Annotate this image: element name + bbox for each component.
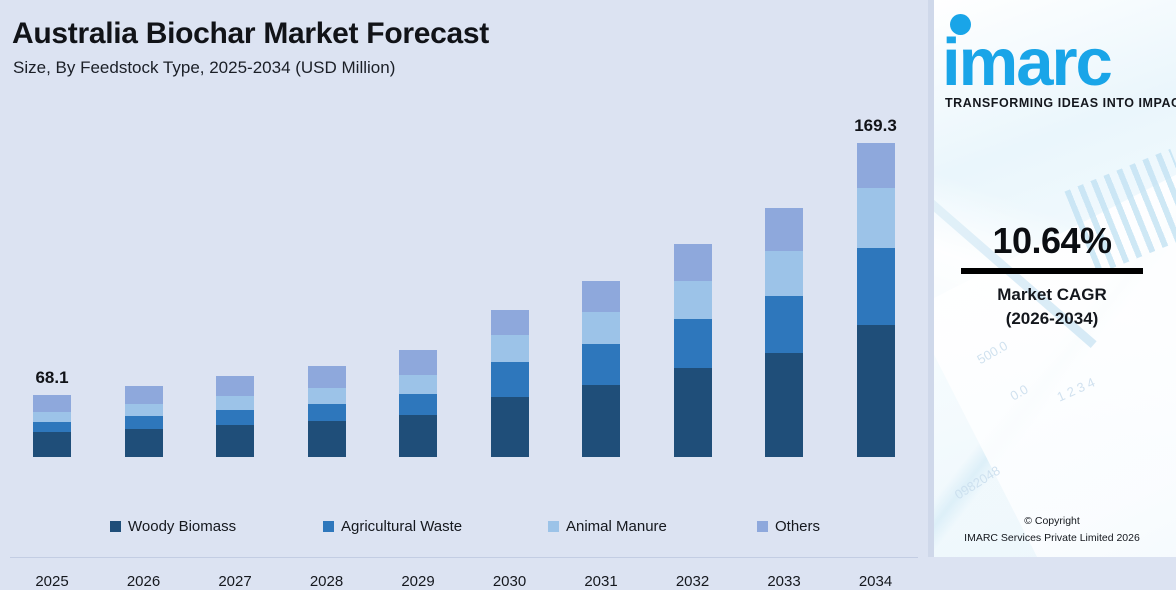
cagr-period: (2026-2034) (928, 307, 1176, 332)
bar-segment-woody-biomass-2029[interactable] (399, 415, 437, 457)
bar-segment-woody-biomass-2027[interactable] (216, 425, 254, 457)
copyright-line-2: IMARC Services Private Limited 2026 (928, 530, 1176, 546)
bar-segment-agricultural-waste-2033[interactable] (765, 296, 803, 353)
page-subtitle: Size, By Feedstock Type, 2025-2034 (USD … (13, 58, 395, 78)
bar-segment-animal-manure-2028[interactable] (308, 388, 346, 404)
chart-panel: Australia Biochar Market Forecast Size, … (0, 0, 928, 557)
bar-segment-agricultural-waste-2030[interactable] (491, 362, 529, 397)
legend-item-others[interactable]: Others (757, 518, 820, 535)
bar-segment-animal-manure-2031[interactable] (582, 312, 620, 344)
x-axis-label-2033: 2033 (765, 573, 803, 590)
legend-swatch-icon (110, 521, 121, 532)
x-axis-label-2031: 2031 (582, 573, 620, 590)
bar-stack-2028[interactable] (308, 366, 346, 457)
bar-segment-agricultural-waste-2026[interactable] (125, 416, 163, 429)
brand-side-panel: 500.0 0.0 1 2 3 4 0982048 imarc TRANSFOR… (928, 0, 1176, 557)
bar-stack-2027[interactable] (216, 376, 254, 457)
plot-area: 68.1169.3 202520262027202820292030203120… (0, 100, 928, 460)
bar-stack-2030[interactable] (491, 310, 529, 457)
legend-item-animal-manure[interactable]: Animal Manure (548, 518, 667, 535)
bar-segment-woody-biomass-2032[interactable] (674, 368, 712, 457)
legend-item-woody-biomass[interactable]: Woody Biomass (110, 518, 236, 535)
chart-legend: Woody BiomassAgricultural WasteAnimal Ma… (0, 518, 920, 544)
bar-stack-2029[interactable] (399, 350, 437, 457)
copyright-block: © Copyright IMARC Services Private Limit… (928, 513, 1176, 546)
bar-segment-others-2025[interactable] (33, 395, 71, 412)
page-title: Australia Biochar Market Forecast (12, 17, 489, 51)
bar-segment-woody-biomass-2026[interactable] (125, 429, 163, 457)
bar-segment-animal-manure-2026[interactable] (125, 404, 163, 416)
bar-segment-woody-biomass-2030[interactable] (491, 397, 529, 457)
bar-segment-others-2027[interactable] (216, 376, 254, 396)
bar-segment-agricultural-waste-2029[interactable] (399, 394, 437, 415)
bar-segment-animal-manure-2027[interactable] (216, 396, 254, 410)
bar-total-label-2034: 169.3 (854, 116, 897, 136)
bar-segment-agricultural-waste-2031[interactable] (582, 344, 620, 385)
bar-segment-others-2028[interactable] (308, 366, 346, 388)
legend-label: Woody Biomass (128, 518, 236, 535)
x-axis-label-2027: 2027 (216, 573, 254, 590)
x-axis-label-2026: 2026 (125, 573, 163, 590)
bar-segment-woody-biomass-2033[interactable] (765, 353, 803, 457)
bar-segment-others-2029[interactable] (399, 350, 437, 375)
bar-stack-2025[interactable] (33, 395, 71, 457)
bar-segment-agricultural-waste-2032[interactable] (674, 319, 712, 368)
bar-segment-woody-biomass-2025[interactable] (33, 432, 71, 457)
bar-segment-others-2026[interactable] (125, 386, 163, 404)
bar-segment-others-2032[interactable] (674, 244, 712, 281)
logo-tagline: TRANSFORMING IDEAS INTO IMPACT (945, 96, 1176, 110)
bar-stack-2031[interactable] (582, 281, 620, 457)
x-axis-label-2032: 2032 (674, 573, 712, 590)
bar-segment-woody-biomass-2031[interactable] (582, 385, 620, 457)
bar-stack-2026[interactable] (125, 386, 163, 457)
bar-segment-animal-manure-2033[interactable] (765, 251, 803, 296)
x-axis-label-2034: 2034 (857, 573, 895, 590)
bar-segment-animal-manure-2029[interactable] (399, 375, 437, 394)
chart-screenshot: Australia Biochar Market Forecast Size, … (0, 0, 1176, 557)
bar-segment-animal-manure-2034[interactable] (857, 188, 895, 248)
bar-segment-agricultural-waste-2025[interactable] (33, 422, 71, 432)
cagr-block: 10.64% Market CAGR (2026-2034) (928, 222, 1176, 332)
bar-segment-others-2034[interactable] (857, 143, 895, 188)
bar-segment-animal-manure-2032[interactable] (674, 281, 712, 319)
bar-stack-2032[interactable] (674, 244, 712, 457)
legend-label: Agricultural Waste (341, 518, 462, 535)
legend-item-agricultural-waste[interactable]: Agricultural Waste (323, 518, 462, 535)
cagr-divider (961, 268, 1143, 274)
imarc-logo: imarc TRANSFORMING IDEAS INTO IMPACT (928, 8, 1176, 108)
legend-swatch-icon (757, 521, 768, 532)
bar-segment-agricultural-waste-2028[interactable] (308, 404, 346, 421)
bar-segment-others-2033[interactable] (765, 208, 803, 251)
x-axis-label-2030: 2030 (491, 573, 529, 590)
legend-swatch-icon (323, 521, 334, 532)
legend-label: Animal Manure (566, 518, 667, 535)
bar-segment-animal-manure-2025[interactable] (33, 412, 71, 422)
bar-stack-2033[interactable] (765, 208, 803, 457)
bar-stack-2034[interactable] (857, 143, 895, 457)
bar-segment-woody-biomass-2034[interactable] (857, 325, 895, 457)
logo-wordmark: imarc (942, 29, 1111, 96)
bar-segment-agricultural-waste-2034[interactable] (857, 248, 895, 325)
bar-segment-agricultural-waste-2027[interactable] (216, 410, 254, 425)
legend-label: Others (775, 518, 820, 535)
x-axis-label-2028: 2028 (308, 573, 346, 590)
x-axis-label-2029: 2029 (399, 573, 437, 590)
bar-segment-animal-manure-2030[interactable] (491, 335, 529, 362)
cagr-value: 10.64% (928, 222, 1176, 260)
bar-segment-others-2030[interactable] (491, 310, 529, 335)
x-axis-label-2025: 2025 (33, 573, 71, 590)
bar-total-label-2025: 68.1 (35, 368, 68, 388)
x-axis-line (10, 557, 918, 558)
legend-swatch-icon (548, 521, 559, 532)
bar-segment-woody-biomass-2028[interactable] (308, 421, 346, 457)
cagr-label: Market CAGR (928, 283, 1176, 308)
copyright-line-1: © Copyright (928, 513, 1176, 529)
bar-segment-others-2031[interactable] (582, 281, 620, 312)
